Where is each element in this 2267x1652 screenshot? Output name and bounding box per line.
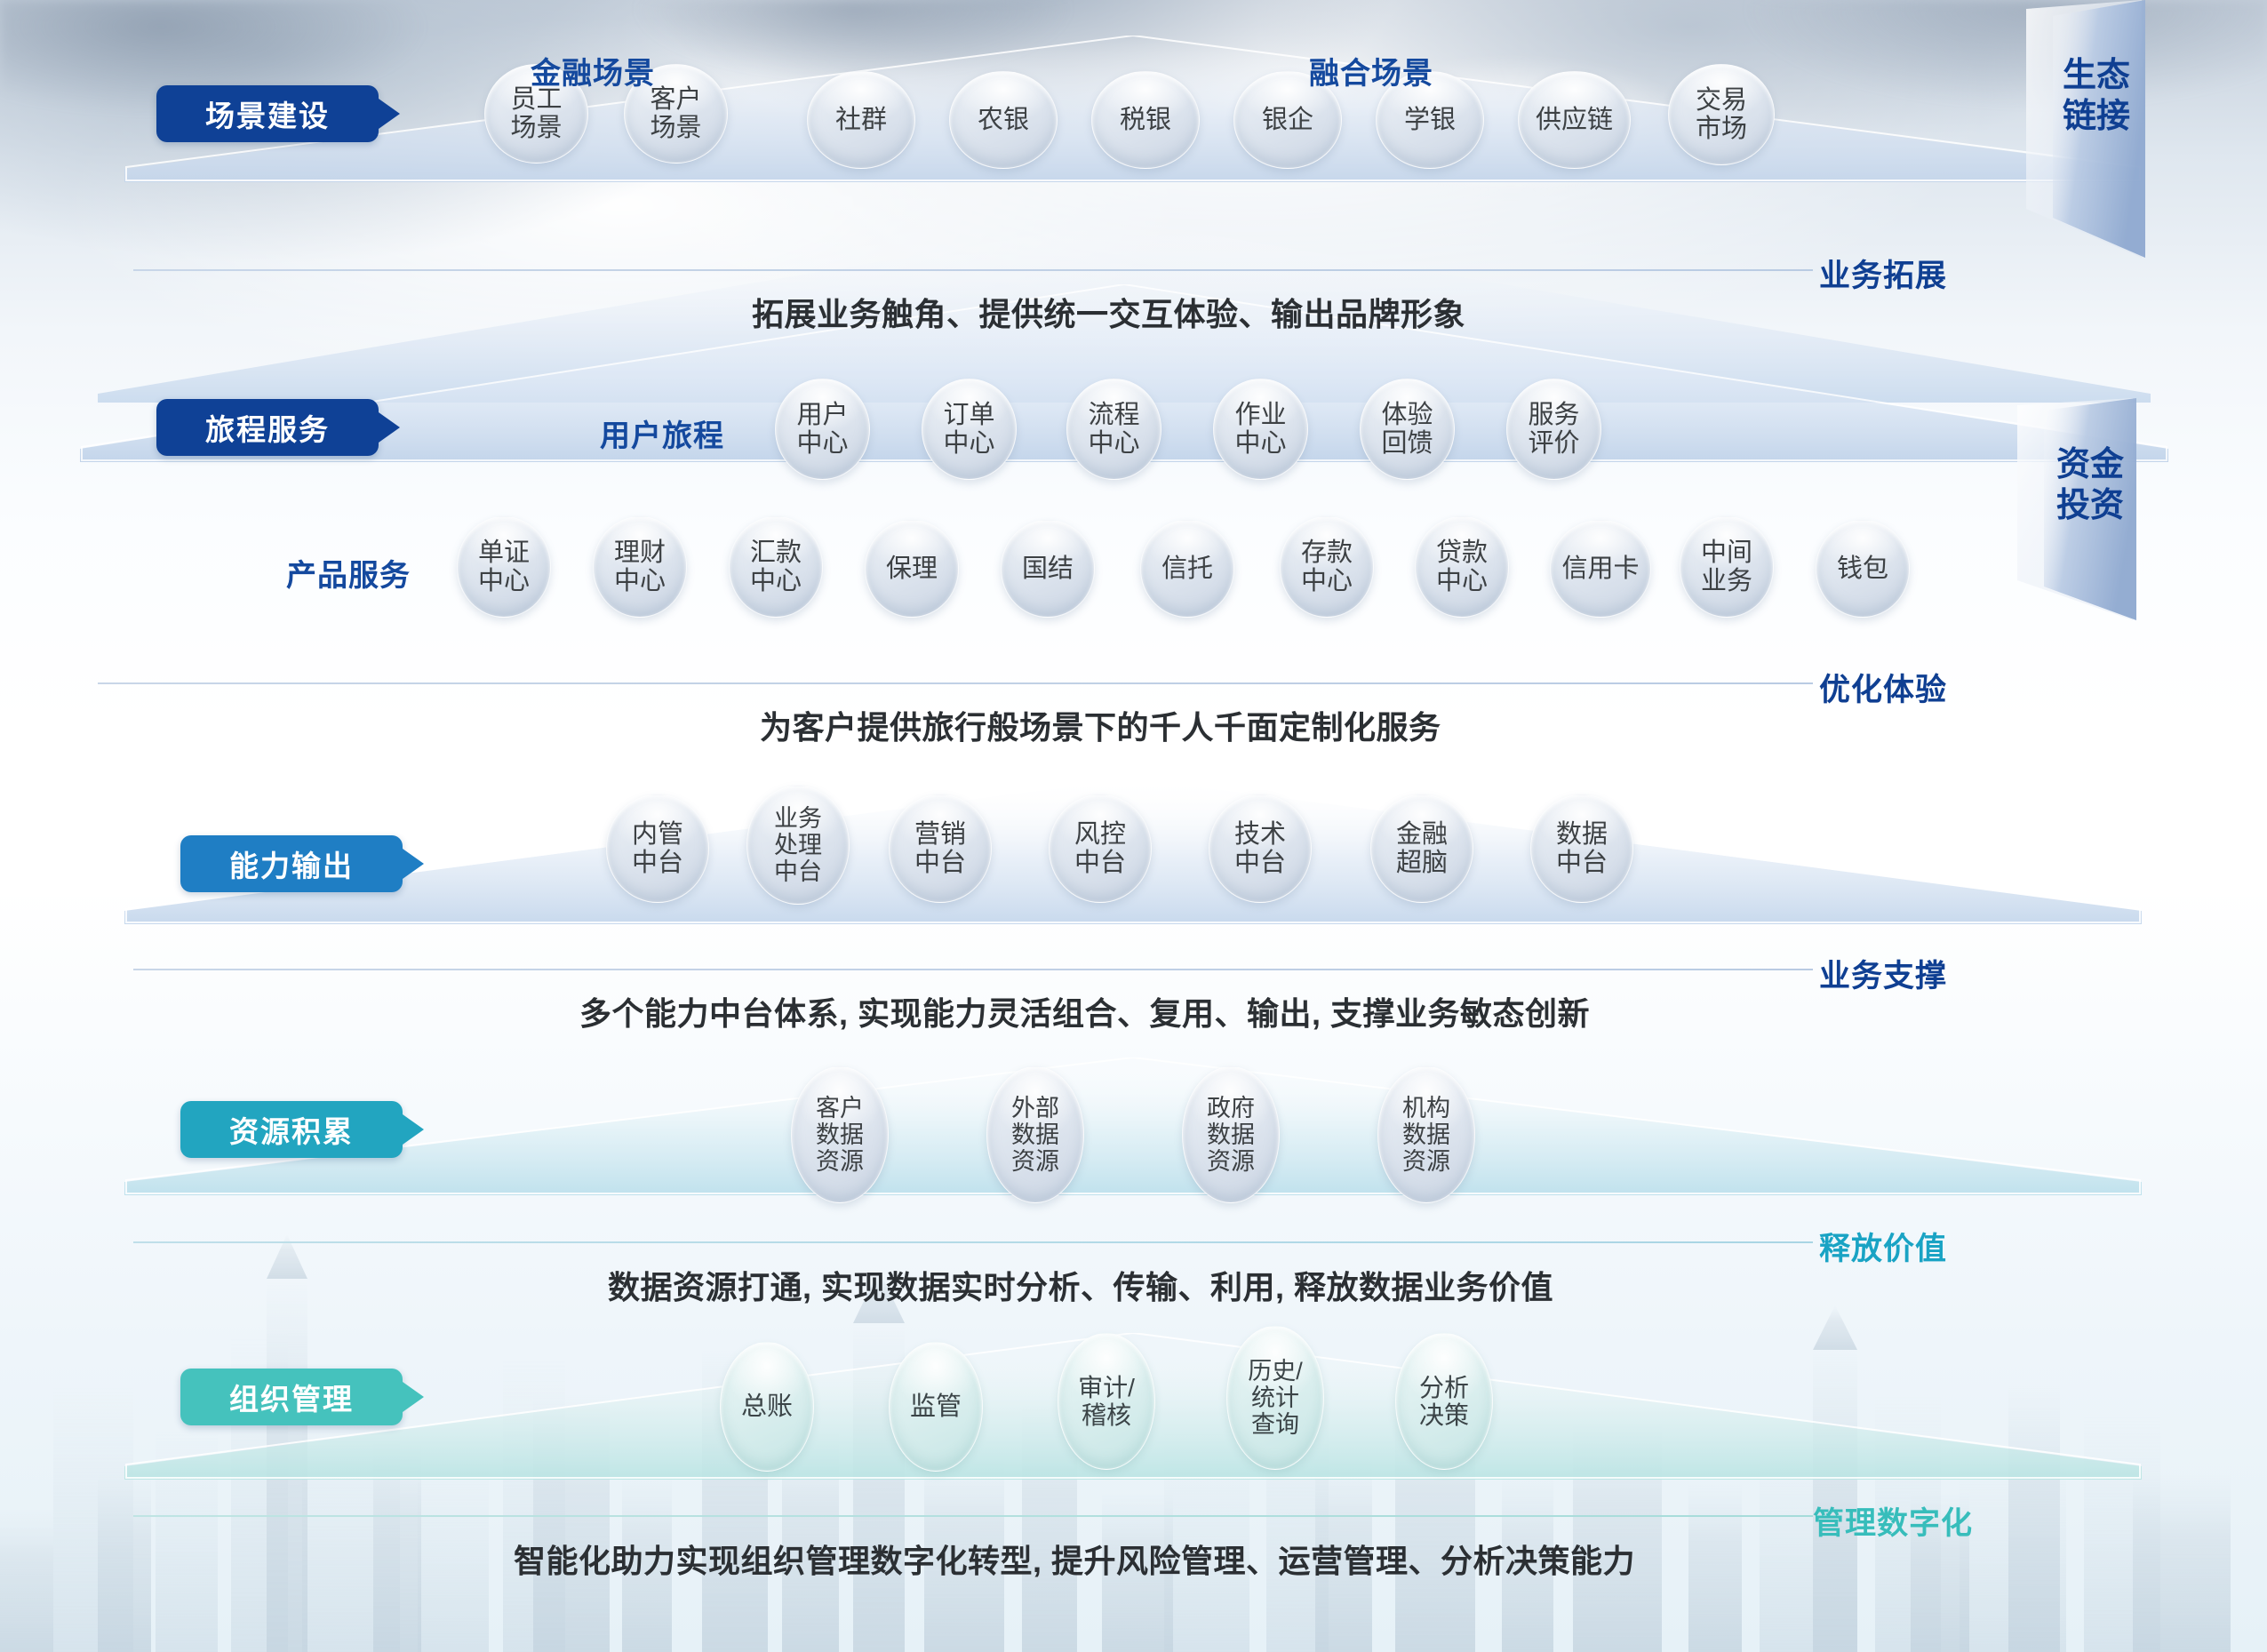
bubble-wealth-center[interactable]: 理财中心 <box>593 516 687 618</box>
bubble-document-center[interactable]: 单证中心 <box>457 516 551 618</box>
bubble-order-center[interactable]: 订单中心 <box>922 379 1017 480</box>
bubble-audit-inspection[interactable]: 审计/稽核 <box>1058 1333 1155 1470</box>
group-label-product-service: 产品服务 <box>286 551 411 595</box>
bubble-supervision[interactable]: 监管 <box>889 1342 983 1472</box>
bubble-community[interactable]: 社群 <box>807 71 915 169</box>
bubble-factoring[interactable]: 保理 <box>865 520 959 618</box>
bubble-general-ledger[interactable]: 总账 <box>720 1342 814 1472</box>
bubble-deposit-center[interactable]: 存款中心 <box>1280 516 1374 618</box>
bubble-government-data-resource[interactable]: 政府数据资源 <box>1182 1066 1280 1203</box>
group-label-user-journey: 用户旅程 <box>600 411 724 455</box>
layer-tag-journey-label: 旅程服务 <box>205 406 330 449</box>
bubble-internal-mgmt-platform[interactable]: 内管中台 <box>606 794 709 903</box>
bubble-data-platform[interactable]: 数据中台 <box>1530 794 1633 903</box>
divider-organization <box>133 1515 1813 1517</box>
bubble-agri-bank[interactable]: 农银 <box>949 71 1058 169</box>
bubble-marketing-platform[interactable]: 营销中台 <box>889 794 992 903</box>
divider-capability <box>133 969 1813 970</box>
bubble-business-processing-platform[interactable]: 业务处理中台 <box>746 786 850 905</box>
bubble-user-center[interactable]: 用户中心 <box>775 379 870 480</box>
right-label-business-expansion: 业务拓展 <box>1819 251 1947 296</box>
side-banner-ecosystem-line1: 生态 <box>2030 55 2163 96</box>
bubble-intermediary-business[interactable]: 中间业务 <box>1680 516 1774 618</box>
bubble-external-data-resource[interactable]: 外部数据资源 <box>986 1066 1084 1203</box>
layer-tag-organization[interactable]: 组织管理 <box>180 1369 403 1425</box>
caption-resource: 数据资源打通, 实现数据实时分析、传输、利用, 释放数据业务价值 <box>608 1262 1553 1308</box>
bubble-trust[interactable]: 信托 <box>1140 520 1234 618</box>
bubble-process-center[interactable]: 流程中心 <box>1066 379 1161 480</box>
bubble-analysis-decision[interactable]: 分析决策 <box>1395 1333 1493 1470</box>
right-label-release-value: 释放价值 <box>1819 1224 1947 1269</box>
layer-tag-resource[interactable]: 资源积累 <box>180 1101 403 1158</box>
right-label-management-digitization: 管理数字化 <box>1813 1498 1973 1544</box>
divider-resource <box>133 1241 1813 1243</box>
side-banner-funding-line2: 投资 <box>2019 485 2161 526</box>
bubble-international-settlement[interactable]: 国结 <box>1001 520 1095 618</box>
bubble-remittance-center[interactable]: 汇款中心 <box>729 516 823 618</box>
side-banner-ecosystem: 生态 链接 <box>1991 0 2222 298</box>
side-banner-ecosystem-line2: 链接 <box>2030 96 2163 137</box>
caption-scene: 拓展业务触角、提供统一交互体验、输出品牌形象 <box>752 289 1465 335</box>
bubble-wallet[interactable]: 钱包 <box>1816 520 1910 618</box>
group-label-financial-scene: 金融场景 <box>531 49 655 92</box>
side-banner-funding: 资金 投资 <box>1982 398 2222 669</box>
bubble-loan-center[interactable]: 贷款中心 <box>1415 516 1509 618</box>
layer-tag-scene-label: 场景建设 <box>205 92 330 135</box>
layer-tag-capability-label: 能力输出 <box>229 842 354 885</box>
layer-tag-capability[interactable]: 能力输出 <box>180 835 403 892</box>
divider-journey <box>98 682 1813 684</box>
layer-tag-organization-label: 组织管理 <box>229 1376 354 1418</box>
layer-tag-resource-label: 资源积累 <box>229 1108 354 1151</box>
caption-capability: 多个能力中台体系, 实现能力灵活组合、复用、输出, 支撑业务敏态创新 <box>579 988 1590 1034</box>
right-label-business-support: 业务支撑 <box>1819 951 1947 996</box>
bubble-service-rating[interactable]: 服务评价 <box>1506 379 1601 480</box>
bubble-institution-data-resource[interactable]: 机构数据资源 <box>1377 1066 1475 1203</box>
divider-scene <box>133 269 1813 271</box>
caption-journey: 为客户提供旅行般场景下的千人千面定制化服务 <box>760 702 1441 748</box>
bubble-operation-center[interactable]: 作业中心 <box>1213 379 1308 480</box>
bubble-supply-chain[interactable]: 供应链 <box>1518 71 1631 169</box>
side-banner-funding-line1: 资金 <box>2019 444 2161 485</box>
group-label-integrated-scene: 融合场景 <box>1309 49 1433 92</box>
bubble-technology-platform[interactable]: 技术中台 <box>1209 794 1312 903</box>
layer-tag-journey[interactable]: 旅程服务 <box>156 399 379 456</box>
bubble-risk-control-platform[interactable]: 风控中台 <box>1049 794 1152 903</box>
bubble-financial-brain[interactable]: 金融超脑 <box>1370 794 1473 903</box>
bubble-experience-feedback[interactable]: 体验回馈 <box>1360 379 1455 480</box>
bubble-tax-bank[interactable]: 税银 <box>1091 71 1200 169</box>
bubble-trading-market[interactable]: 交易市场 <box>1668 64 1775 165</box>
right-label-optimize-experience: 优化体验 <box>1819 665 1947 710</box>
layer-tag-scene[interactable]: 场景建设 <box>156 85 379 142</box>
bubble-history-statistics-query[interactable]: 历史/统计查询 <box>1226 1326 1324 1470</box>
bubble-customer-data-resource[interactable]: 客户数据资源 <box>791 1066 889 1203</box>
bubble-credit-card[interactable]: 信用卡 <box>1550 520 1651 618</box>
caption-organization: 智能化助力实现组织管理数字化转型, 提升风险管理、运营管理、分析决策能力 <box>514 1536 1635 1582</box>
band-resource <box>124 1057 2142 1195</box>
